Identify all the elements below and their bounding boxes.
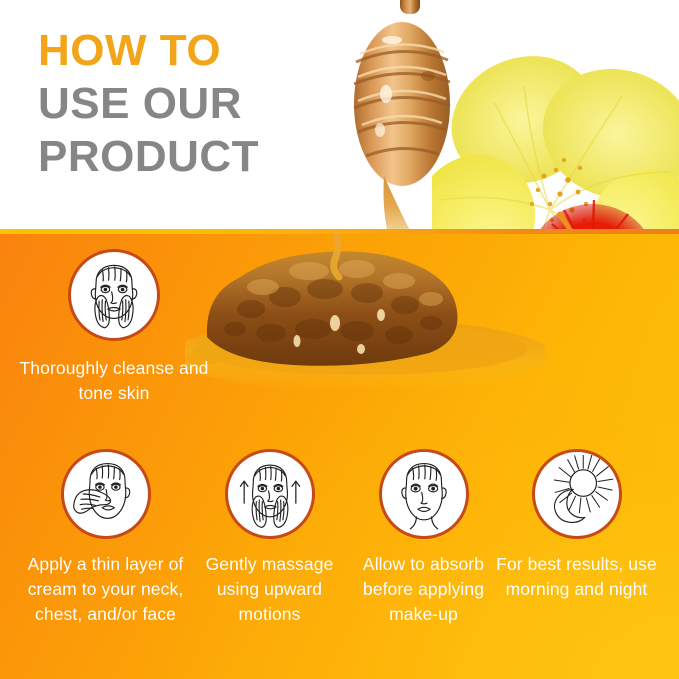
step-item-3: Gently massage using upward motions <box>186 449 353 627</box>
face-apply-cream-icon <box>61 449 151 539</box>
sun-moon-icon <box>532 449 622 539</box>
how-to-use-product-poster: HOW TO USE OUR PRODUCT <box>0 0 679 679</box>
hibiscus-flower-photo <box>432 24 679 229</box>
honeycomb-photo <box>185 234 545 419</box>
step-caption: Thoroughly cleanse and tone skin <box>14 356 214 406</box>
face-cleanse-icon <box>68 249 160 341</box>
title-line-2: USE OUR <box>38 77 338 130</box>
step-item-4: Allow to absorb before applying make-up <box>340 449 507 627</box>
step-caption: Gently massage using upward motions <box>186 552 353 627</box>
step-caption: Apply a thin layer of cream to your neck… <box>22 552 189 627</box>
step-item-1: Thoroughly cleanse and tone skin <box>14 249 214 406</box>
face-absorb-icon <box>379 449 469 539</box>
face-massage-upward-icon <box>225 449 315 539</box>
title-line-3: PRODUCT <box>38 130 338 183</box>
page-title: HOW TO USE OUR PRODUCT <box>38 24 338 183</box>
step-caption: Allow to absorb before applying make-up <box>340 552 507 627</box>
header-band: HOW TO USE OUR PRODUCT <box>0 0 679 229</box>
step-item-2: Apply a thin layer of cream to your neck… <box>22 449 189 627</box>
step-item-5: For best results, use morning and night <box>493 449 660 602</box>
step-caption: For best results, use morning and night <box>493 552 660 602</box>
title-line-1: HOW TO <box>38 24 338 77</box>
section-divider <box>0 229 679 234</box>
